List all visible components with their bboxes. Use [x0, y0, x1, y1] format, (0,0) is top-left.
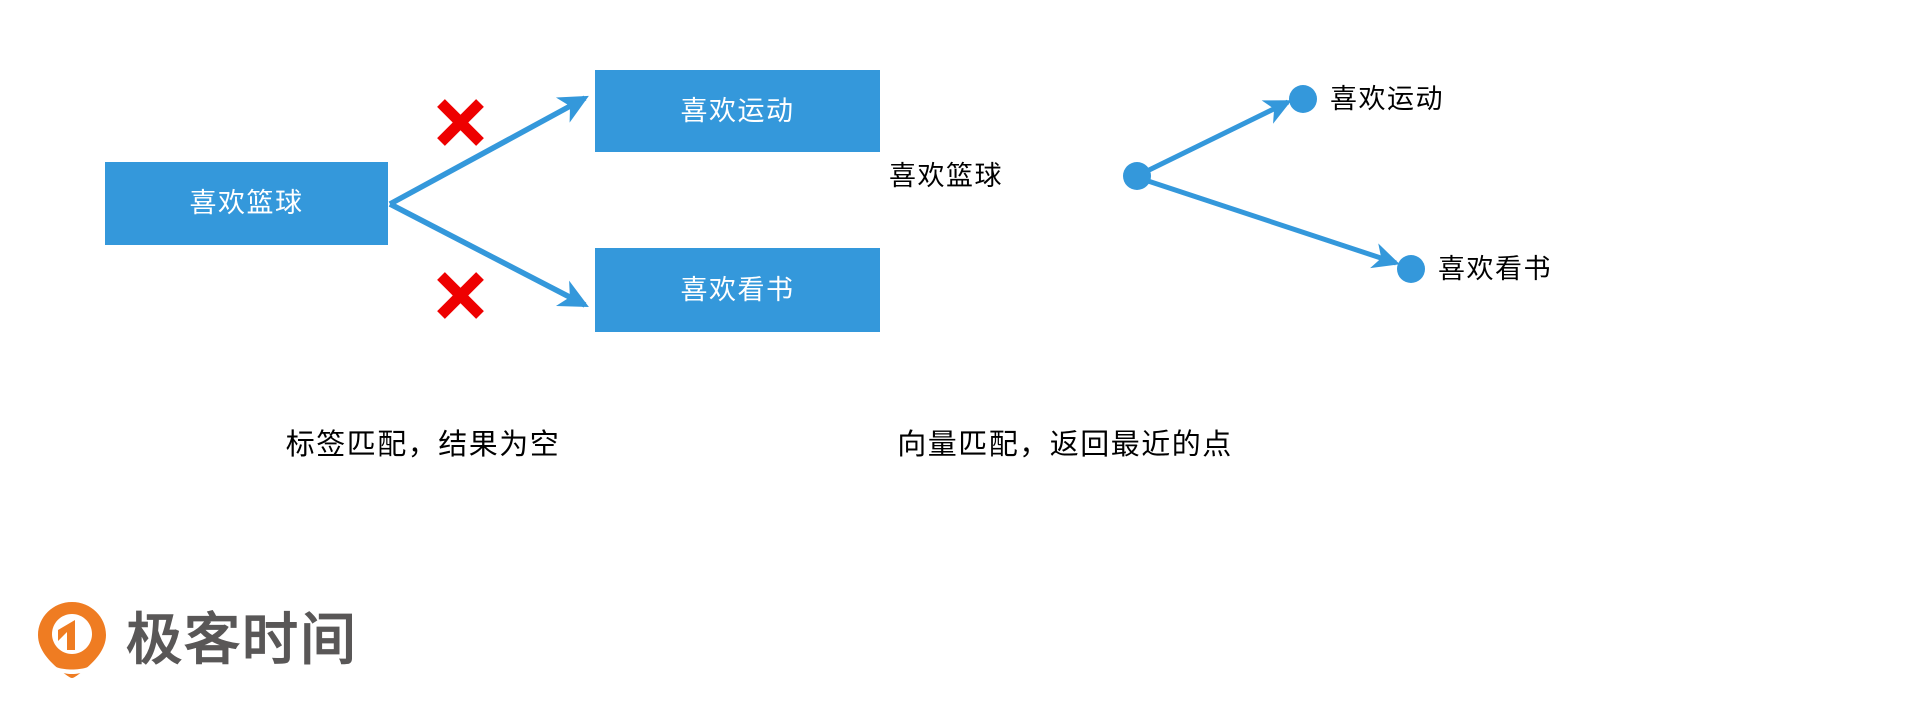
box-source-like-basketball[interactable]: 喜欢篮球: [105, 162, 388, 245]
caption-vector-matching: 向量匹配，返回最近的点: [897, 431, 1233, 460]
dot-target-1-label: 喜欢运动: [1330, 86, 1444, 113]
dot-source-like-basketball[interactable]: [1123, 162, 1151, 190]
geektime-logo-mark-icon: [36, 600, 108, 680]
arrow-source-to-reading: [390, 204, 585, 305]
arrow-source-to-sport: [390, 98, 585, 204]
left-arrow-group: [390, 98, 585, 305]
arrow-dot-source-to-reading: [1145, 180, 1396, 263]
cross-mark-bottom-icon: [441, 276, 480, 315]
geektime-logo-text: 极客时间: [126, 612, 358, 668]
cross-mark-top-icon: [441, 103, 480, 142]
dot-target-like-reading[interactable]: [1397, 255, 1425, 283]
box-target-like-reading[interactable]: 喜欢看书: [595, 248, 880, 332]
caption-tag-matching: 标签匹配，结果为空: [286, 431, 561, 460]
box-target-like-sports[interactable]: 喜欢运动: [595, 70, 880, 152]
geektime-logo: 极客时间: [36, 600, 358, 680]
dot-target-2-label: 喜欢看书: [1438, 256, 1552, 283]
dot-source-label: 喜欢篮球: [889, 163, 1003, 190]
right-arrow-group: [1145, 102, 1396, 263]
box-target-1-label: 喜欢运动: [681, 98, 795, 125]
arrow-dot-source-to-sport: [1145, 102, 1288, 172]
dot-target-like-sports[interactable]: [1289, 85, 1317, 113]
slide-canvas: 喜欢篮球 喜欢运动 喜欢看书 喜欢篮球 喜欢运动 喜欢看书 标签匹配，结果为空 …: [0, 0, 1920, 705]
box-source-label: 喜欢篮球: [190, 190, 304, 217]
box-target-2-label: 喜欢看书: [681, 277, 795, 304]
